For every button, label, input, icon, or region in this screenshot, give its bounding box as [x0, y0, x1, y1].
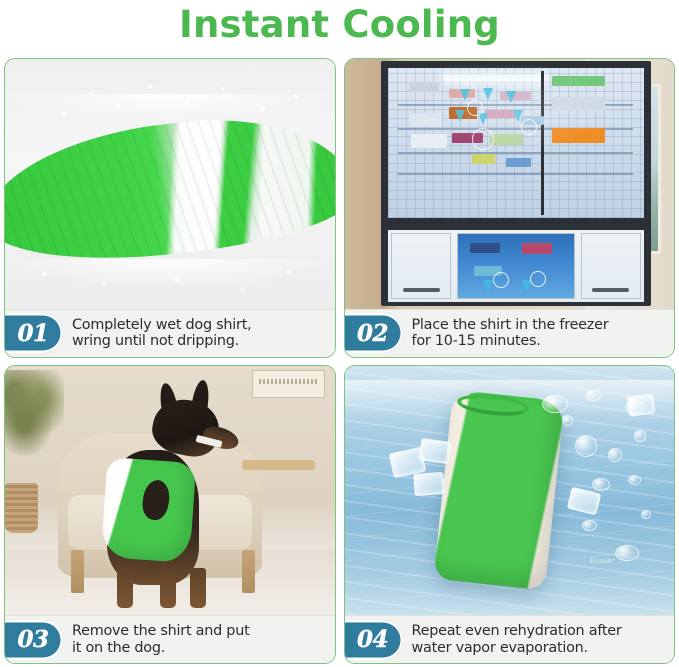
dog-front-leg	[160, 568, 176, 608]
step-number-04: 04	[351, 626, 388, 653]
step-caption-text-03: Remove the shirt and put it on the dog.	[63, 623, 335, 656]
step-caption-01: 01 Completely wet dog shirt, wring until…	[5, 309, 335, 357]
airflow-ring-icon	[530, 271, 546, 287]
step-caption-text-01: Completely wet dog shirt, wring until no…	[63, 317, 335, 350]
frame-text-lines	[259, 379, 318, 385]
step-image-03	[5, 366, 335, 616]
armchair-leg	[242, 550, 255, 592]
freezer-drawer-left	[391, 233, 451, 299]
ice-cube	[413, 472, 444, 496]
water-droplets	[5, 59, 335, 309]
fridge-upper-compartment	[386, 66, 645, 220]
infographic-page: Instant Cooling 01 Completely wet dog sh…	[0, 0, 679, 667]
step-image-04: Kuoser	[345, 366, 675, 616]
step-caption-text-04: Repeat even rehydration after water vapo…	[403, 623, 675, 656]
freezer-drawer-open	[457, 233, 575, 299]
step-caption-04: 04 Repeat even rehydration after water v…	[345, 615, 675, 663]
step-card-01[interactable]: 01 Completely wet dog shirt, wring until…	[4, 58, 336, 358]
potted-plant	[5, 370, 64, 455]
step-number-02: 02	[351, 320, 388, 347]
side-table	[242, 460, 314, 470]
drawer-handle	[403, 288, 440, 292]
step-badge-01: 01	[4, 313, 63, 353]
step-card-04[interactable]: Kuoser 04 Repeat even rehydration after …	[344, 365, 676, 665]
step-number-01: 01	[11, 320, 48, 347]
step-card-03[interactable]: 03 Remove the shirt and put it on the do…	[4, 365, 336, 665]
step-caption-03: 03 Remove the shirt and put it on the do…	[5, 615, 335, 663]
armchair-leg	[71, 550, 84, 592]
airflow-ring-icon	[493, 272, 509, 288]
refrigerator	[381, 61, 651, 306]
airflow-glow	[388, 68, 643, 218]
step-image-02	[345, 59, 675, 309]
air-bubble	[582, 520, 597, 531]
step-caption-text-02: Place the shirt in the freezer for 10-15…	[403, 317, 675, 350]
step-number-03: 03	[11, 626, 48, 653]
green-shirt-underwater	[434, 390, 565, 590]
step-caption-02: 02 Place the shirt in the freezer for 10…	[345, 309, 675, 357]
brand-logo-text: Kuoser	[590, 557, 615, 565]
cool-air-arrow-icon	[483, 280, 493, 292]
freezer-item	[470, 243, 500, 253]
air-bubble	[608, 448, 622, 462]
steps-grid: 01 Completely wet dog shirt, wring until…	[4, 58, 675, 664]
air-bubble	[615, 545, 639, 561]
drawer-handle	[592, 288, 629, 292]
step-badge-03: 03	[4, 620, 63, 660]
air-bubble	[592, 478, 610, 491]
freezer-compartment	[386, 228, 645, 304]
wall-picture-frame	[252, 370, 324, 397]
dog-front-leg	[117, 568, 133, 608]
woven-basket	[5, 483, 38, 533]
step-badge-04: 04	[344, 620, 403, 660]
step-image-01	[5, 59, 335, 309]
step-badge-02: 02	[344, 313, 403, 353]
dog-hind-leg	[190, 568, 206, 608]
freezer-item	[522, 243, 552, 253]
freezer-drawer-right	[581, 233, 641, 299]
page-title: Instant Cooling	[0, 2, 679, 48]
step-card-02[interactable]: 02 Place the shirt in the freezer for 10…	[344, 58, 676, 358]
